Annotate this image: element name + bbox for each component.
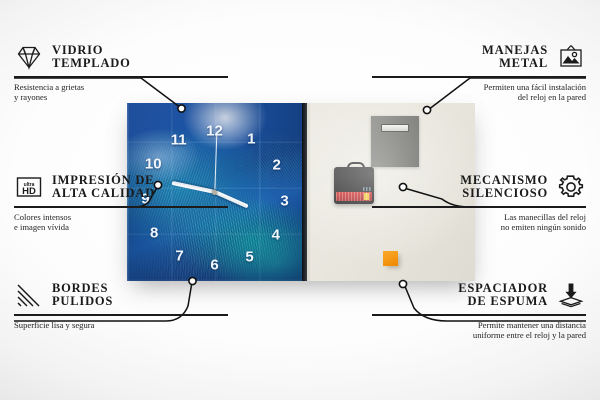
metal-hanger [371,116,419,167]
feature-print-desc-line1: Colores intensos [14,212,71,222]
clock-numeral-11: 11 [171,133,187,148]
feature-foam-rule [372,314,586,316]
hanging-picture-frame-icon [556,42,586,72]
svg-text:HD: HD [22,186,36,197]
clock-numeral-3: 3 [280,193,288,208]
clock-numeral-2: 2 [272,158,280,173]
feature-print-head: ultra HD IMPRESIÓN DE ALTA CALIDAD [14,172,228,202]
feature-mechanism-desc: Las manecillas del reloj no emiten ningú… [372,212,586,233]
feature-mechanism-desc-line2: no emiten ningún sonido [501,222,586,232]
feature-print-desc-line2: e imagen vívida [14,222,69,232]
feature-mechanism-desc-line1: Las manecillas del reloj [504,212,586,222]
mechanism-label-band [336,192,372,201]
feature-print-title: IMPRESIÓN DE ALTA CALIDAD [52,174,155,201]
feature-print-title-line2: ALTA CALIDAD [52,186,155,200]
mechanism-label-chip [364,193,369,200]
feature-edges-title: BORDES PULIDOS [52,282,113,309]
feature-foam: ESPACIADOR DE ESPUMA Permite mantener un… [372,280,586,341]
feature-glass-desc: Resistencia a grietas y rayones [14,82,228,103]
feature-glass: VIDRIO TEMPLADO Resistencia a grietas y … [14,42,228,103]
mechanism-body [334,167,374,204]
feature-glass-head: VIDRIO TEMPLADO [14,42,228,72]
feature-handles-head: MANEJAS METAL [372,42,586,72]
clock-numeral-7: 7 [175,249,183,264]
feature-foam-title-line2: DE ESPUMA [468,294,548,308]
feature-foam-head: ESPACIADOR DE ESPUMA [372,280,586,310]
feature-glass-desc-line2: y rayones [14,92,47,102]
feature-foam-title-line1: ESPACIADOR [458,281,548,295]
feature-mechanism-title: MECANISMO SILENCIOSO [460,174,548,201]
hanger-slot [381,124,409,132]
feature-edges-title-line1: BORDES [52,281,108,295]
feature-foam-desc: Permite mantener una distancia uniforme … [372,320,586,341]
feature-edges-desc-line1: Superficie lisa y segura [14,320,94,330]
infographic-canvas: 12 1 2 3 4 5 6 7 8 9 10 11 [0,0,600,400]
feature-mechanism: MECANISMO SILENCIOSO Las manecillas del … [372,172,586,233]
quartz-mechanism [334,162,374,204]
clock-numeral-12: 12 [206,124,223,139]
feature-foam-desc-line2: uniforme entre el reloj y la pared [473,330,586,340]
feature-edges-title-line2: PULIDOS [52,294,113,308]
feature-handles: MANEJAS METAL Permiten una fácil instala… [372,42,586,103]
feature-glass-desc-line1: Resistencia a grietas [14,82,84,92]
feature-handles-rule [372,76,586,78]
feature-print-rule [14,206,228,208]
clock-numeral-6: 6 [210,257,218,272]
feature-print-desc: Colores intensos e imagen vívida [14,212,228,233]
arrow-down-onto-stack-icon [556,280,586,310]
clock-numeral-4: 4 [272,227,280,242]
clock-numeral-10: 10 [145,156,162,171]
feature-edges-desc: Superficie lisa y segura [14,320,228,331]
clock-numeral-1: 1 [247,132,255,147]
feature-glass-title-line1: VIDRIO [52,43,103,57]
feature-handles-title: MANEJAS METAL [482,44,548,71]
feature-edges-head: BORDES PULIDOS [14,280,228,310]
feature-foam-title: ESPACIADOR DE ESPUMA [458,282,548,309]
feature-handles-desc-line1: Permiten una fácil instalación [484,82,586,92]
ultra-hd-icon: ultra HD [14,172,44,202]
mechanism-contacts [363,187,371,191]
feature-handles-desc-line2: del reloj en la pared [518,92,586,102]
feature-edges: BORDES PULIDOS Superficie lisa y segura [14,280,228,330]
feature-mechanism-title-line1: MECANISMO [460,173,548,187]
feature-handles-desc: Permiten una fácil instalación del reloj… [372,82,586,103]
feature-mechanism-head: MECANISMO SILENCIOSO [372,172,586,202]
feature-mechanism-rule [372,206,586,208]
feature-print-title-line1: IMPRESIÓN DE [52,173,154,187]
clock-numeral-5: 5 [245,249,253,264]
feature-print: ultra HD IMPRESIÓN DE ALTA CALIDAD Color… [14,172,228,233]
feature-glass-title-line2: TEMPLADO [52,56,131,70]
feature-glass-title: VIDRIO TEMPLADO [52,44,131,71]
feature-foam-desc-line1: Permite mantener una distancia [478,320,586,330]
mechanism-loop [347,162,365,172]
feature-handles-title-line1: MANEJAS [482,43,548,57]
feature-glass-rule [14,76,228,78]
gear-icon [556,172,586,202]
foam-spacer [383,251,398,266]
feature-edges-rule [14,314,228,316]
feature-handles-title-line2: METAL [499,56,548,70]
diagonal-stripes-icon [14,280,44,310]
feature-mechanism-title-line2: SILENCIOSO [462,186,548,200]
diamond-icon [14,42,44,72]
